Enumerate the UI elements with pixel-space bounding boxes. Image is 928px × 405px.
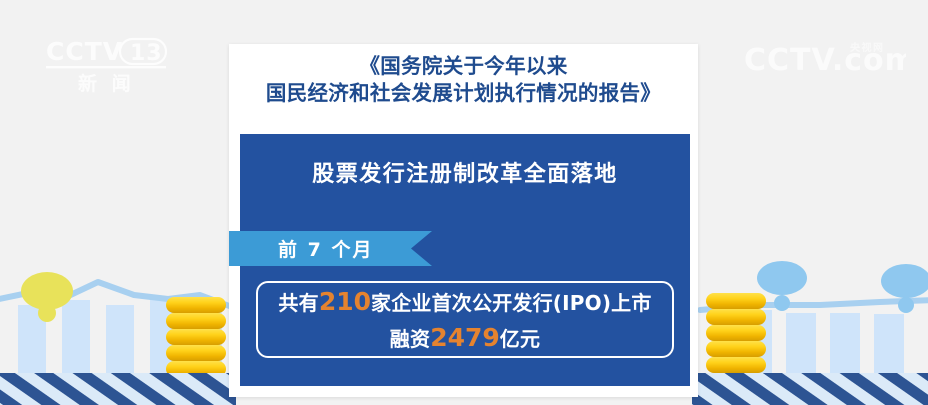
- right-balloon-1-marker: [774, 295, 790, 311]
- stripe-band-left: [0, 373, 236, 405]
- cctv13-channel-number: 13: [130, 41, 163, 66]
- right-balloon-2-marker: [898, 297, 914, 313]
- infographic-card: 《国务院关于今年以来 国民经济和社会发展计划执行情况的报告》 股票发行注册制改革…: [229, 44, 698, 397]
- statistics-box: 共有210家企业首次公开发行(IPO)上市 融资2479亿元: [256, 281, 674, 358]
- screenshot-root: CCTV 13 新 闻 CCTV.com 央视网 《国务院关于今年以来 国民经济…: [0, 0, 928, 405]
- left-balloon-marker: [38, 304, 56, 322]
- cctv13-subtitle: 新 闻: [78, 72, 135, 95]
- report-title: 《国务院关于今年以来 国民经济和社会发展计划执行情况的报告》: [229, 53, 698, 108]
- cctv13-watermark: CCTV 13 新 闻: [46, 34, 170, 96]
- period-ribbon: 前 7 个月: [229, 231, 432, 266]
- blue-content-panel: 股票发行注册制改革全面落地 前 7 个月 共有210家企业首次公开发行(IPO)…: [240, 134, 690, 386]
- ipo-count-value: 210: [319, 287, 371, 316]
- statistic-row-financing: 融资2479亿元: [390, 320, 540, 356]
- cctv13-logo-icon: CCTV 13 新 闻: [46, 34, 170, 96]
- cctvcom-watermark: CCTV.com 央视网: [738, 38, 906, 78]
- report-title-line-1: 《国务院关于今年以来: [229, 53, 698, 80]
- report-title-line-2: 国民经济和社会发展计划执行情况的报告》: [229, 80, 698, 107]
- right-coin-stack: [706, 293, 766, 373]
- left-coin-stack: [166, 297, 226, 377]
- cctvcom-subtitle: 央视网: [850, 41, 885, 54]
- right-balloon-1: [757, 261, 807, 295]
- financing-amount-value: 2479: [430, 323, 500, 352]
- financing-prefix-text: 融资: [390, 327, 430, 351]
- ipo-prefix-text: 共有: [278, 291, 318, 315]
- statistic-row-ipo: 共有210家企业首次公开发行(IPO)上市: [278, 284, 651, 320]
- cctv13-brand-text: CCTV: [46, 37, 123, 66]
- panel-headline: 股票发行注册制改革全面落地: [240, 156, 690, 188]
- cctvcom-logo-icon: CCTV.com 央视网: [738, 38, 906, 78]
- stripe-band-right: [692, 373, 928, 405]
- financing-suffix-text: 亿元: [500, 327, 540, 351]
- period-ribbon-label: 前 7 个月: [229, 235, 373, 262]
- ipo-suffix-text: 家企业首次公开发行(IPO)上市: [371, 291, 652, 315]
